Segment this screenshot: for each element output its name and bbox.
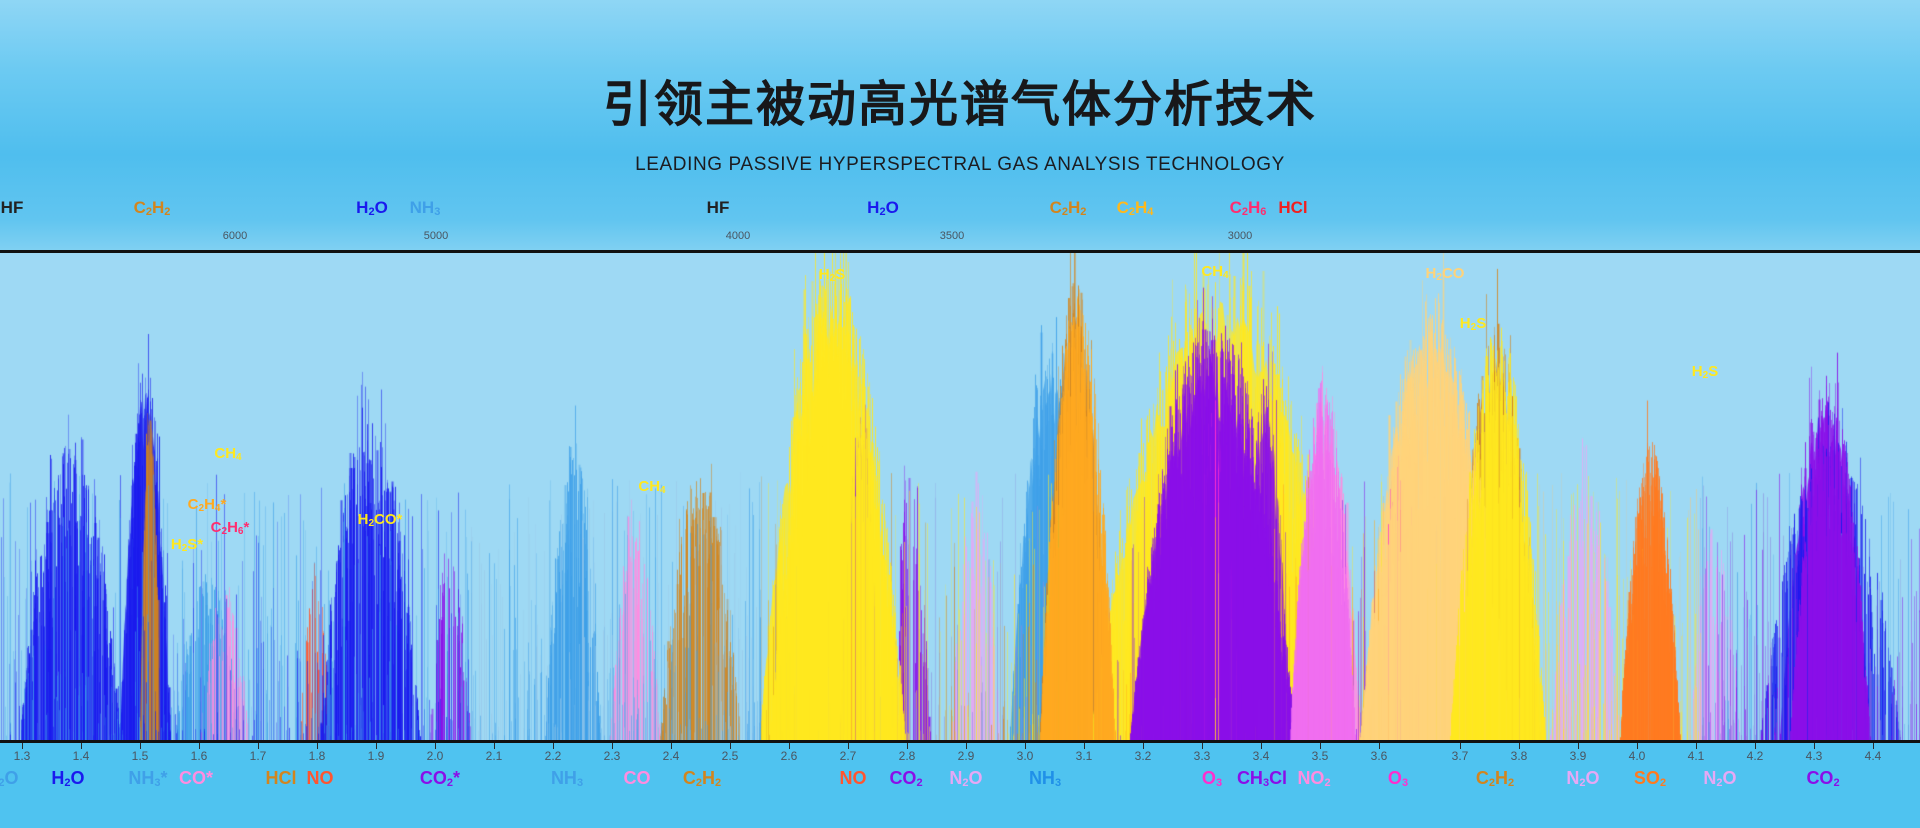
in-plot-gas-label: CH4: [638, 478, 665, 496]
bottom-gas-label: H2O: [0, 768, 19, 789]
top-gas-label: H2O: [356, 198, 388, 218]
bottom-gas-label: CO*: [179, 768, 213, 789]
bottom-axis-tick-label: 1.6: [191, 749, 208, 763]
top-axis-tick-label: 4000: [726, 230, 750, 242]
bottom-gas-label: CO: [624, 768, 651, 789]
bottom-axis-tick-label: 4.4: [1865, 749, 1882, 763]
spectrum-plot: CH4C2H4*C2H6*H2S*H2CO*CH4H2SCH4H2COH2SH2…: [0, 253, 1920, 740]
in-plot-gas-label: H2S: [1692, 363, 1718, 381]
top-gas-label: H2O: [867, 198, 899, 218]
top-axis-ticks: 60005000400035003000: [0, 230, 1920, 252]
bottom-gas-label: O3: [1388, 768, 1408, 789]
bottom-gas-label: NH3: [551, 768, 583, 789]
bottom-axis-tick-label: 2.2: [545, 749, 562, 763]
bottom-gas-label-row: H2OH2ONH3*CO*HClNOCO2*NH3COC2H2NOCO2N2ON…: [0, 768, 1920, 808]
bottom-axis-tick-label: 4.1: [1688, 749, 1705, 763]
top-gas-label-row: HFC2H2H2ONH3HFH2OC2H2C2H4C2H6HCl: [0, 198, 1920, 232]
page-subtitle: LEADING PASSIVE HYPERSPECTRAL GAS ANALYS…: [0, 154, 1920, 176]
in-plot-gas-label: H2CO*: [358, 511, 403, 529]
spectrum-canvas: [0, 253, 1920, 740]
bottom-axis-tick-label: 2.5: [722, 749, 739, 763]
bottom-axis-tick-label: 1.3: [14, 749, 31, 763]
bottom-gas-label: NO2: [1297, 768, 1330, 789]
top-axis-tick-label: 3500: [940, 230, 964, 242]
bottom-axis-tick-label: 2.7: [840, 749, 857, 763]
bottom-gas-label: CO2: [1806, 768, 1839, 789]
bottom-axis-tick-label: 3.3: [1194, 749, 1211, 763]
bottom-axis-tick-label: 1.9: [368, 749, 385, 763]
top-gas-label: HCl: [1278, 198, 1307, 218]
top-gas-label: C2H2: [134, 198, 171, 218]
bottom-gas-label: H2O: [51, 768, 84, 789]
bottom-axis-ticks: 1.31.41.51.61.71.81.92.02.12.22.32.42.52…: [0, 743, 1920, 767]
bottom-axis-tick-label: 3.7: [1452, 749, 1469, 763]
bottom-gas-label: HCl: [266, 768, 297, 789]
bottom-axis-tick-label: 2.8: [899, 749, 916, 763]
bottom-axis-tick-label: 3.4: [1253, 749, 1270, 763]
in-plot-gas-label: H2S: [1460, 315, 1486, 333]
bottom-axis-tick-label: 3.2: [1135, 749, 1152, 763]
top-gas-label: C2H4: [1117, 198, 1154, 218]
in-plot-gas-label: H2S*: [171, 536, 203, 554]
bottom-gas-label: N2O: [1703, 768, 1736, 789]
bottom-gas-label: SO2: [1634, 768, 1666, 789]
bottom-gas-label: C2H2: [1476, 768, 1514, 789]
bottom-axis-tick-label: 3.5: [1312, 749, 1329, 763]
bottom-axis-tick-label: 2.0: [427, 749, 444, 763]
bottom-gas-label: C2H2: [683, 768, 721, 789]
bottom-gas-label: NO: [307, 768, 334, 789]
bottom-axis-tick-label: 4.0: [1629, 749, 1646, 763]
bottom-axis-tick-label: 3.9: [1570, 749, 1587, 763]
bottom-gas-label: O3: [1202, 768, 1222, 789]
bottom-axis-tick-label: 4.2: [1747, 749, 1764, 763]
top-gas-label: C2H2: [1050, 198, 1087, 218]
bottom-gas-label: CO2: [889, 768, 922, 789]
bottom-axis-tick-label: 2.3: [604, 749, 621, 763]
bottom-axis-tick-label: 2.4: [663, 749, 680, 763]
bottom-axis-tick-label: 3.8: [1511, 749, 1528, 763]
bottom-gas-label: CH3Cl: [1237, 768, 1287, 789]
top-gas-label: HF: [1, 198, 24, 218]
bottom-gas-label: CO2*: [420, 768, 460, 789]
top-gas-label: C2H6: [1230, 198, 1267, 218]
bottom-axis-tick-label: 3.1: [1076, 749, 1093, 763]
top-axis-tick-label: 6000: [223, 230, 247, 242]
bottom-axis-tick-label: 1.8: [309, 749, 326, 763]
in-plot-gas-label: C2H4*: [188, 496, 227, 514]
in-plot-gas-label: C2H6*: [211, 519, 250, 537]
bottom-gas-label: NO: [840, 768, 867, 789]
in-plot-gas-label: H2CO: [1426, 265, 1465, 283]
bottom-gas-label: N2O: [949, 768, 982, 789]
bottom-axis-tick-label: 4.3: [1806, 749, 1823, 763]
top-gas-label: HF: [707, 198, 730, 218]
bottom-gas-label: NH3*: [128, 768, 167, 789]
bottom-axis-tick-label: 1.4: [73, 749, 90, 763]
top-axis-tick-label: 5000: [424, 230, 448, 242]
bottom-axis-tick-label: 3.6: [1371, 749, 1388, 763]
bottom-axis-tick-label: 3.0: [1017, 749, 1034, 763]
bottom-gas-label: N2O: [1566, 768, 1599, 789]
top-axis-tick-label: 3000: [1228, 230, 1252, 242]
bottom-axis-tick-label: 2.6: [781, 749, 798, 763]
bottom-gas-label: NH3: [1029, 768, 1061, 789]
bottom-axis-tick-label: 1.7: [250, 749, 267, 763]
in-plot-gas-label: CH4: [214, 445, 241, 463]
page-title: 引领主被动高光谱气体分析技术: [0, 65, 1920, 136]
bottom-axis-tick-label: 1.5: [132, 749, 149, 763]
in-plot-gas-label: CH4: [1201, 263, 1228, 281]
bottom-axis-tick-label: 2.1: [486, 749, 503, 763]
bottom-axis-tick-label: 2.9: [958, 749, 975, 763]
top-gas-label: NH3: [410, 198, 441, 218]
in-plot-gas-label: H2S: [819, 266, 845, 284]
